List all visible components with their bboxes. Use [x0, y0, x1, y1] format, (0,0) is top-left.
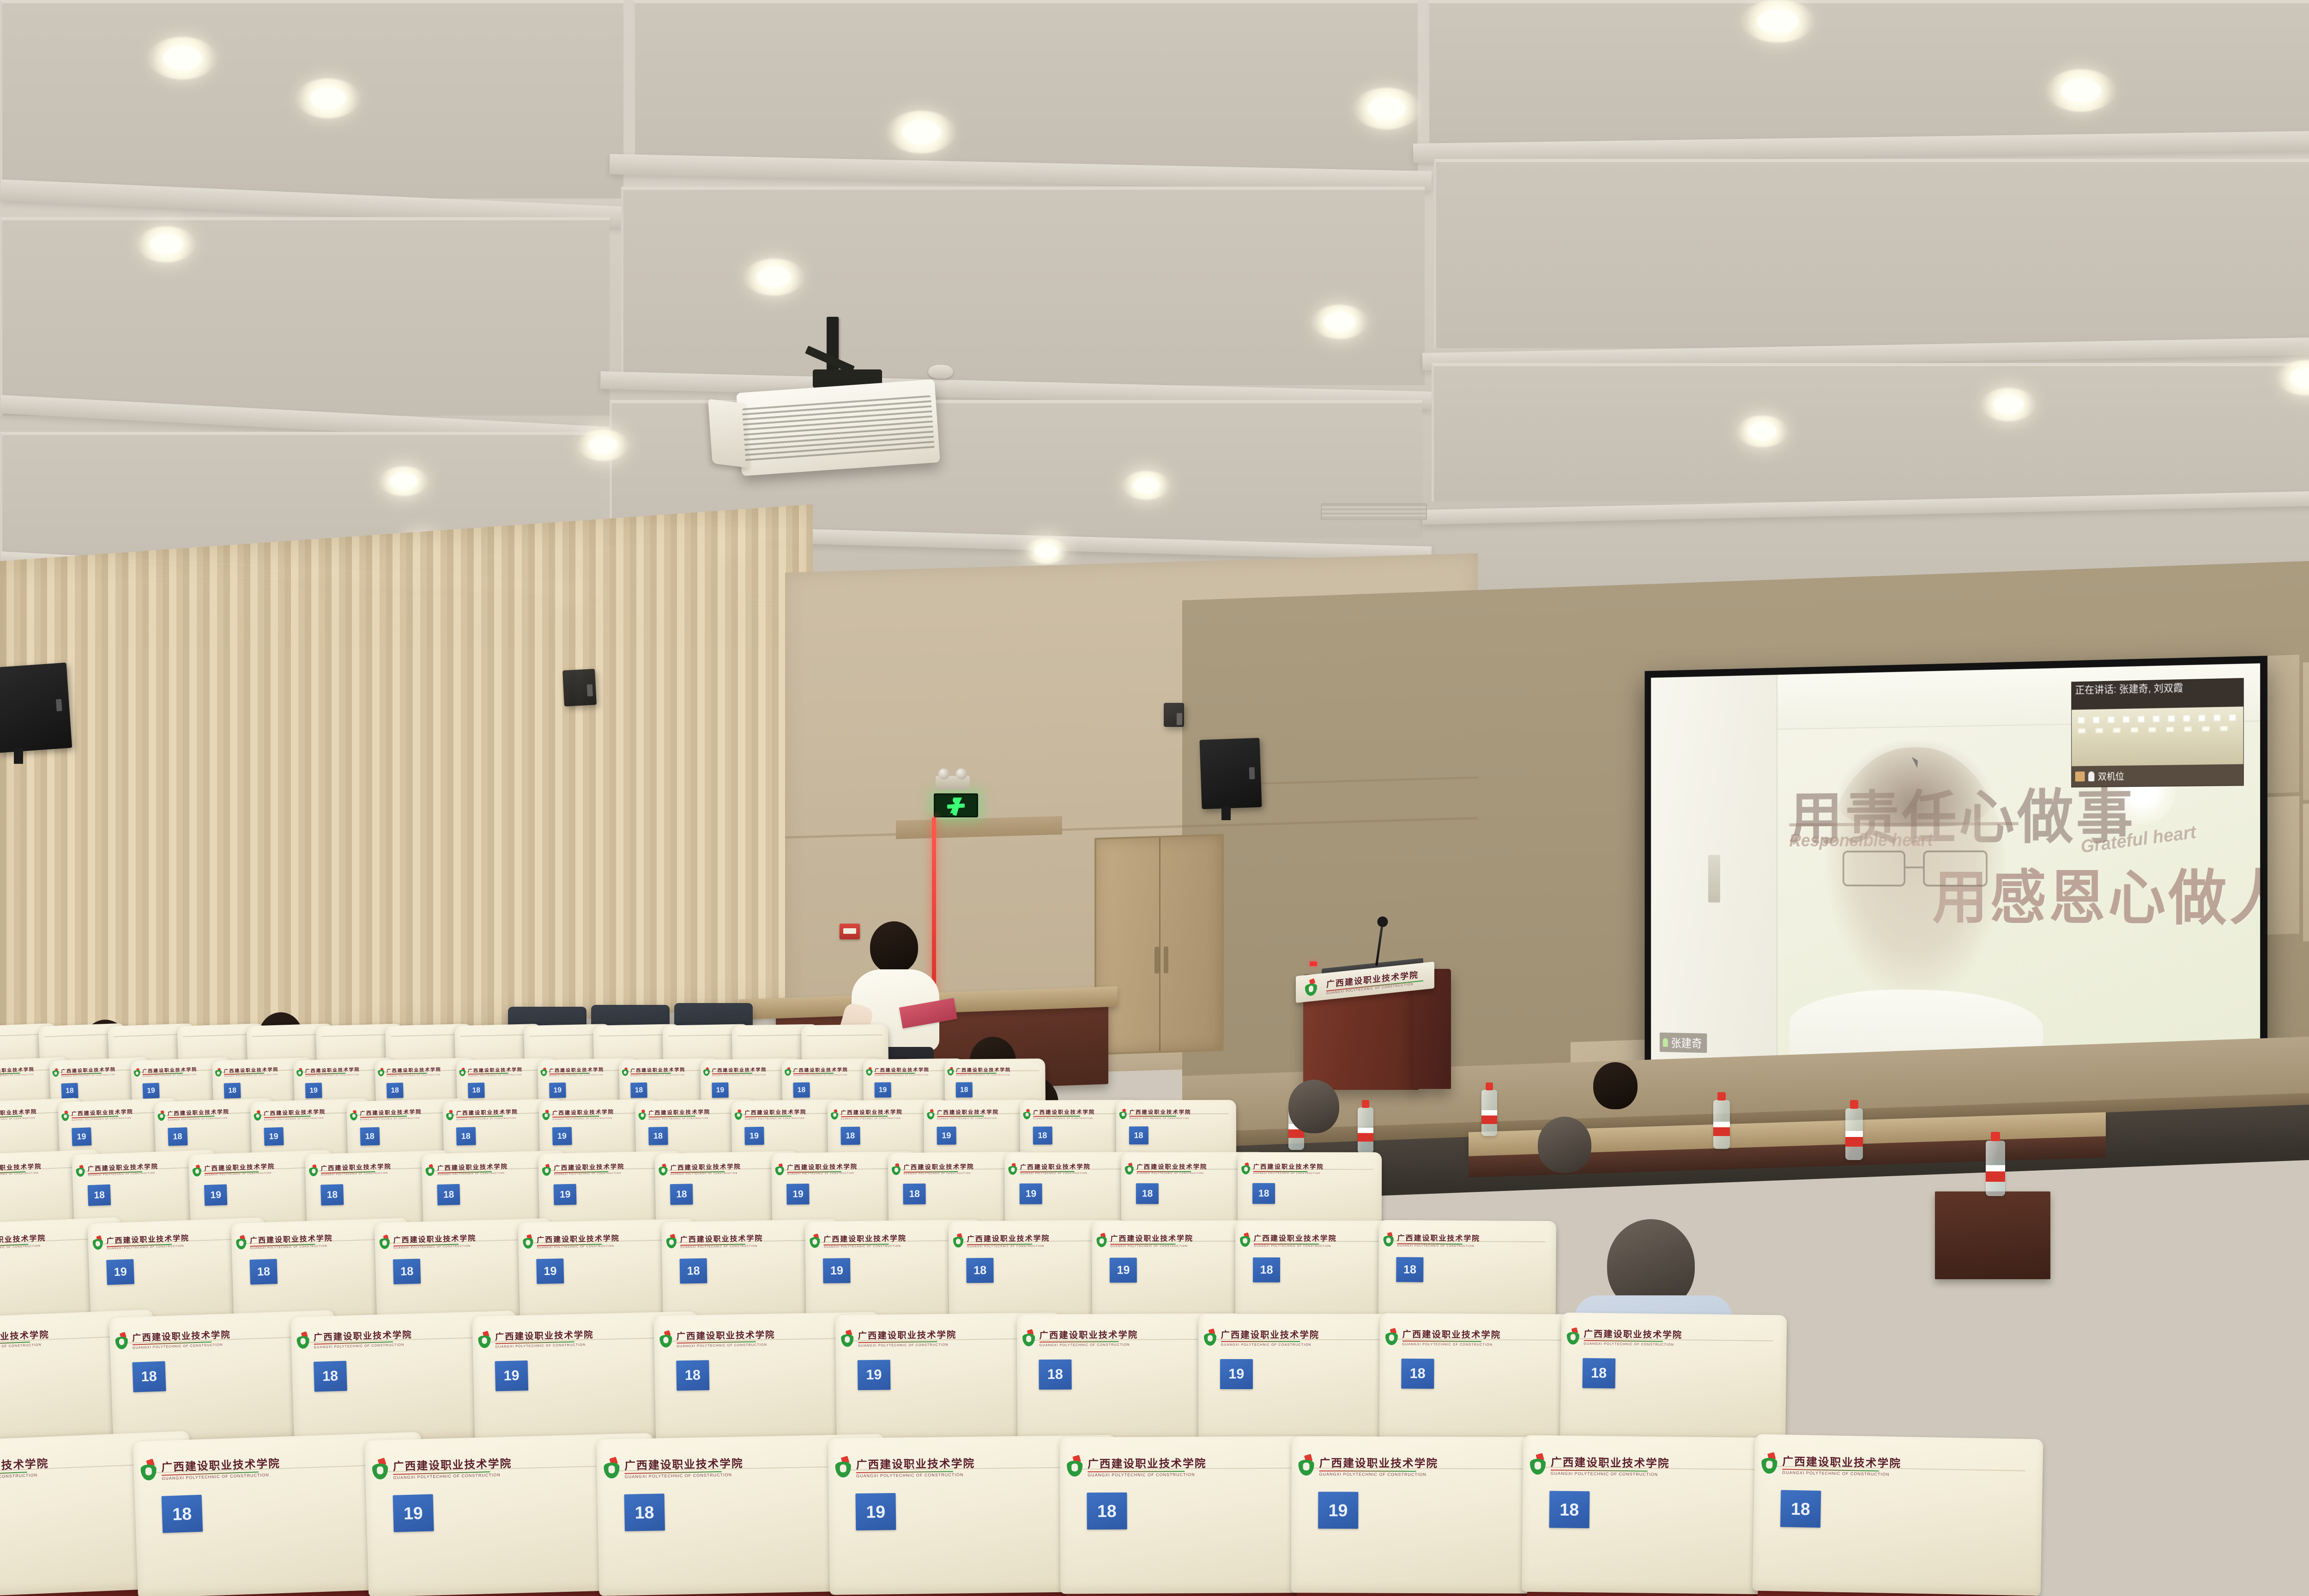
school-logo-icon — [809, 1234, 822, 1248]
school-logo: 广西建设职业技术学院GUANGXI POLYTECHNIC OF CONSTRU… — [192, 1161, 275, 1177]
school-logo-icon — [446, 1110, 455, 1120]
seat-number-badge: 18 — [624, 1493, 665, 1531]
seat-headrest-cover: 广西建设职业技术学院GUANGXI POLYTECHNIC OF CONSTRU… — [1560, 1312, 1787, 1441]
school-logo: 广西建设职业技术学院GUANGXI POLYTECHNIC OF CONSTRU… — [947, 1066, 1011, 1076]
seat-logo-cn: 广西建设职业技术学院 — [956, 1066, 1011, 1073]
seat-logo-cn: 广西建设职业技术学院 — [1088, 1454, 1207, 1471]
seat-number-badge: 18 — [680, 1258, 707, 1284]
school-logo: 广西建设职业技术学院GUANGXI POLYTECHNIC OF CONSTRU… — [1384, 1327, 1501, 1347]
school-logo: 广西建设职业技术学院GUANGXI POLYTECHNIC OF CONSTRU… — [602, 1454, 743, 1480]
school-logo: 广西建设职业技术学院GUANGXI POLYTECHNIC OF CONSTRU… — [139, 1454, 281, 1482]
seat-logo-en: GUANGXI POLYTECHNIC OF CONSTRUCTION — [824, 1245, 907, 1248]
school-logo: 广西建设职业技术学院GUANGXI POLYTECHNIC OF CONSTRU… — [0, 1454, 49, 1483]
seat-number-badge: 18 — [250, 1259, 278, 1285]
seat-logo-cn: 广西建设职业技术学院 — [937, 1108, 999, 1116]
wall-speaker — [1199, 738, 1262, 809]
school-logo: 广西建设职业技术学院GUANGXI POLYTECHNIC OF CONSTRU… — [1119, 1108, 1191, 1120]
ceiling-downlight — [137, 226, 196, 262]
school-logo: 广西建设职业技术学院GUANGXI POLYTECHNIC OF CONSTRU… — [52, 1065, 116, 1077]
microphone-icon — [1662, 1038, 1668, 1047]
school-logo: 广西建设职业技术学院GUANGXI POLYTECHNIC OF CONSTRU… — [830, 1108, 903, 1120]
school-logo-icon — [734, 1110, 744, 1120]
ceiling-downlight — [1025, 538, 1068, 564]
seat-logo-en: GUANGXI POLYTECHNIC OF CONSTRUCTION — [1221, 1342, 1320, 1347]
seat-number-badge: 18 — [437, 1184, 460, 1205]
pip-microphone-icon[interactable] — [2088, 771, 2094, 781]
seat-logo-cn: 广西建设职业技术学院 — [537, 1232, 620, 1245]
auditorium-seat[interactable]: 广西建设职业技术学院GUANGXI POLYTECHNIC OF CONSTRU… — [1757, 1443, 2037, 1596]
seat-number-badge: 19 — [264, 1127, 284, 1146]
side-wall-ribbed-panel — [0, 504, 813, 1060]
school-logo-icon — [91, 1235, 105, 1250]
school-logo-icon — [1529, 1454, 1548, 1475]
seat-logo-cn: 广西建设职业技术学院 — [393, 1232, 476, 1245]
seat-logo-cn: 广西建设职业技术学院 — [264, 1108, 326, 1117]
seat-number-badge: 18 — [670, 1184, 693, 1205]
school-logo-icon — [75, 1165, 87, 1177]
seat-number-badge: 19 — [142, 1083, 160, 1099]
seat-logo-cn: 广西建设职业技术学院 — [903, 1162, 974, 1172]
projection-screen-surface: 用责任心做事 Responsible heart 用感恩心做人 Grateful… — [1651, 663, 2260, 1077]
running-person-icon — [948, 798, 964, 813]
school-logo-icon — [840, 1330, 856, 1347]
seat-logo-cn: 广西建设职业技术学院 — [671, 1161, 741, 1172]
school-logo-icon — [133, 1068, 141, 1077]
school-logo: 广西建设职业技术学院GUANGXI POLYTECHNIC OF CONSTRU… — [1241, 1162, 1324, 1175]
water-bottle[interactable] — [1713, 1100, 1730, 1149]
school-logo: 广西建设职业技术学院GUANGXI POLYTECHNIC OF CONSTRU… — [834, 1454, 975, 1479]
door-handle[interactable] — [1154, 947, 1159, 973]
school-logo: 广西建设职业技术学院GUANGXI POLYTECHNIC OF CONSTRU… — [91, 1232, 189, 1251]
seat-number-badge: 18 — [630, 1082, 647, 1098]
school-logo: 广西建设职业技术学院GUANGXI POLYTECHNIC OF CONSTRU… — [133, 1065, 197, 1077]
seat-logo-cn: 广西建设职业技术学院 — [456, 1108, 518, 1117]
seat-logo-cn: 广西建设职业技术学院 — [1319, 1454, 1439, 1470]
ceiling-downlight — [1741, 0, 1815, 42]
school-logo-icon — [952, 1233, 966, 1247]
school-logo-icon — [658, 1164, 669, 1176]
seat-logo-cn: 广西建设职业技术学院 — [224, 1066, 278, 1074]
school-logo-icon — [659, 1330, 675, 1348]
seat-number-badge: 19 — [786, 1184, 810, 1204]
school-logo-icon — [459, 1068, 467, 1076]
seat-logo-cn: 广西建设职业技术学院 — [1253, 1162, 1324, 1171]
seat-number-badge: 18 — [168, 1127, 187, 1146]
seat-logo-cn: 广西建设职业技术学院 — [1020, 1162, 1091, 1171]
seat-logo-cn: 广西建设职业技术学院 — [1584, 1327, 1682, 1341]
ceiling-coffer — [1432, 363, 2309, 502]
ceiling-downlight — [1312, 305, 1368, 339]
seat-number-badge: 18 — [456, 1127, 476, 1145]
seat-logo-en: GUANGXI POLYTECHNIC OF CONSTRUCTION — [1584, 1342, 1682, 1347]
seat-logo-cn: 广西建设职业技术学院 — [967, 1232, 1050, 1244]
school-logo-icon — [139, 1459, 159, 1481]
seat-logo-cn: 广西建设职业技术学院 — [793, 1066, 848, 1073]
ceiling-downlight — [1981, 388, 2036, 421]
school-logo-icon — [891, 1163, 902, 1175]
school-logo-icon — [926, 1109, 936, 1119]
seat-logo-en: GUANGXI POLYTECHNIC OF CONSTRUCTION — [937, 1117, 999, 1120]
school-logo: 广西建设职业技术学院GUANGXI POLYTECHNIC OF CONSTRU… — [1008, 1162, 1091, 1175]
seat-logo-en: GUANGXI POLYTECHNIC OF CONSTRUCTION — [787, 1172, 858, 1176]
seat-logo-cn: 广西建设职业技术学院 — [1221, 1328, 1320, 1341]
school-logo: 广西建设职业技术学院GUANGXI POLYTECHNIC OF CONSTRU… — [61, 1108, 133, 1122]
seat-number-badge: 19 — [72, 1128, 91, 1146]
ceiling-downlight — [743, 259, 804, 296]
ceiling-coffer — [0, 217, 610, 416]
seat-number-badge: 18 — [320, 1184, 344, 1205]
seat-logo-cn: 广西建设职业技术学院 — [1397, 1232, 1481, 1243]
seat-number-badge: 19 — [1318, 1492, 1359, 1529]
video-room-wall-fixture — [1708, 855, 1720, 902]
school-logo: 广西建设职业技术学院GUANGXI POLYTECHNIC OF CONSTRU… — [1239, 1232, 1336, 1248]
school-logo-icon — [834, 1457, 854, 1477]
seat-logo-en: GUANGXI POLYTECHNIC OF CONSTRUCTION — [793, 1074, 848, 1076]
seat-number-badge: 19 — [106, 1259, 134, 1285]
seat-logo-cn: 广西建设职业技术学院 — [744, 1108, 806, 1116]
seat-number-badge: 18 — [955, 1082, 973, 1098]
seat-logo-cn: 广西建设职业技术学院 — [677, 1328, 775, 1342]
seat-number-badge: 19 — [937, 1127, 956, 1145]
ceiling-downlight — [296, 79, 360, 118]
seat-logo-cn: 广西建设职业技术学院 — [1136, 1162, 1207, 1171]
school-logo-icon — [378, 1235, 392, 1249]
seat-number-badge: 18 — [1252, 1183, 1275, 1204]
seat-logo-cn: 广西建设职业技术学院 — [305, 1066, 360, 1074]
school-logo-icon — [1203, 1329, 1219, 1346]
seat-number-badge: 19 — [857, 1360, 890, 1390]
school-logo-icon — [296, 1068, 304, 1076]
school-logo: 广西建设职业技术学院GUANGXI POLYTECHNIC OF CONSTRU… — [809, 1232, 907, 1249]
seat-logo-cn: 广西建设职业技术学院 — [856, 1454, 975, 1472]
school-logo: 广西建设职业技术学院GUANGXI POLYTECHNIC OF CONSTRU… — [371, 1454, 512, 1481]
school-logo-icon — [1239, 1233, 1252, 1246]
school-logo-icon — [253, 1110, 263, 1120]
school-logo-icon — [1297, 1455, 1317, 1475]
person-head — [1288, 1080, 1339, 1133]
school-logo: 广西建设职业技术学院GUANGXI POLYTECHNIC OF CONSTRU… — [542, 1108, 614, 1120]
seat-logo-en: GUANGXI POLYTECHNIC OF CONSTRUCTION — [0, 1472, 49, 1482]
door-handle[interactable] — [1164, 946, 1168, 973]
ceiling-downlight — [379, 466, 429, 496]
school-logo: 广西建设职业技术学院GUANGXI POLYTECHNIC OF CONSTRU… — [622, 1066, 686, 1077]
seat-logo-cn: 广西建设职业技术学院 — [1130, 1108, 1191, 1116]
wall-speaker — [0, 663, 72, 753]
seat-logo-en: GUANGXI POLYTECHNIC OF CONSTRUCTION — [1253, 1172, 1324, 1175]
emergency-exit-sign — [934, 793, 978, 817]
seat-number-badge: 19 — [495, 1360, 528, 1391]
wall-speaker — [1164, 703, 1184, 727]
seat-logo-cn: 广西建设职业技术学院 — [320, 1161, 391, 1172]
school-logo-icon — [1304, 979, 1320, 997]
school-logo: 广西建设职业技术学院GUANGXI POLYTECHNIC OF CONSTRU… — [1383, 1232, 1481, 1248]
seat-logo-en: GUANGXI POLYTECHNIC OF CONSTRUCTION — [875, 1074, 930, 1076]
door-split-line — [1159, 838, 1161, 1051]
seat-logo-cn: 广西建设职业技术学院 — [142, 1065, 197, 1074]
school-logo: 广西建设职业技术学院GUANGXI POLYTECHNIC OF CONSTRU… — [952, 1232, 1050, 1248]
seat-number-badge: 18 — [161, 1495, 203, 1533]
side-table — [1935, 1191, 2050, 1279]
school-logo-icon — [542, 1110, 551, 1120]
seat-number-badge: 19 — [552, 1127, 572, 1145]
seat-logo-cn: 广西建设职业技术学院 — [630, 1066, 685, 1073]
seat-logo-en: GUANGXI POLYTECHNIC OF CONSTRUCTION — [967, 1245, 1050, 1248]
school-logo-icon — [638, 1110, 647, 1120]
seat-number-badge: 18 — [1549, 1491, 1590, 1529]
seat-number-badge: 18 — [1087, 1493, 1127, 1529]
water-bottle[interactable] — [1358, 1107, 1373, 1154]
seat-logo-en: GUANGXI POLYTECHNIC OF CONSTRUCTION — [1319, 1472, 1439, 1477]
seat-logo-cn: 广西建设职业技术学院 — [387, 1066, 441, 1074]
seat-number-badge: 19 — [393, 1494, 434, 1532]
school-logo-icon — [1241, 1162, 1252, 1174]
seat-number-badge: 18 — [88, 1185, 111, 1206]
school-logo: 广西建设职业技术学院GUANGXI POLYTECHNIC OF CONSTRU… — [0, 1161, 42, 1178]
acoustic-wall-pad — [2303, 800, 2309, 942]
seat-number-badge: 18 — [387, 1082, 404, 1098]
water-bottle[interactable] — [1986, 1141, 2005, 1196]
school-logo-icon — [371, 1458, 391, 1480]
school-logo: 广西建设职业技术学院GUANGXI POLYTECHNIC OF CONSTRU… — [253, 1108, 326, 1121]
school-logo-icon — [308, 1164, 320, 1176]
smoke-detector-icon — [928, 365, 953, 379]
seat-number-badge: 18 — [648, 1127, 668, 1145]
seat-number-badge: 18 — [132, 1361, 166, 1392]
school-logo: 广西建设职业技术学院GUANGXI POLYTECHNIC OF CONSTRU… — [0, 1232, 46, 1251]
seat-logo-cn: 广西建设职业技术学院 — [1254, 1232, 1337, 1243]
seat-number-badge: 18 — [676, 1360, 710, 1390]
seat-logo-cn: 广西建设职业技术学院 — [1033, 1108, 1095, 1116]
seat-logo-cn: 广西建设职业技术学院 — [624, 1454, 743, 1473]
seat-logo-cn: 广西建设职业技术学院 — [360, 1108, 422, 1117]
school-logo: 广西建设职业技术学院GUANGXI POLYTECHNIC OF CONSTRU… — [296, 1328, 412, 1350]
school-logo: 广西建设职业技术学院GUANGXI POLYTECHNIC OF CONSTRU… — [1760, 1451, 1902, 1477]
seat-number-badge: 18 — [468, 1082, 485, 1098]
school-logo-icon — [1566, 1328, 1582, 1345]
speaker-bracket — [1221, 806, 1231, 820]
school-logo-icon — [192, 1165, 203, 1177]
school-logo-icon — [1124, 1163, 1136, 1174]
school-logo-icon — [602, 1457, 622, 1479]
seat-logo-cn: 广西建设职业技术学院 — [161, 1454, 281, 1475]
seat-logo-cn: 广西建设职业技术学院 — [1402, 1327, 1501, 1341]
school-logo: 广西建设职业技术学院GUANGXI POLYTECHNIC OF CONSTRU… — [1022, 1108, 1095, 1120]
school-logo-icon — [350, 1110, 359, 1120]
seat-logo-cn: 广西建设职业技术学院 — [88, 1161, 159, 1173]
school-logo: 广西建设职业技术学院GUANGXI POLYTECHNIC OF CONSTRU… — [840, 1328, 957, 1348]
seat-logo-cn: 广西建设职业技术学院 — [1551, 1453, 1670, 1470]
school-logo: 广西建设职业技术学院GUANGXI POLYTECHNIC OF CONSTRU… — [157, 1108, 230, 1121]
presenter-name-chip: 张建奇 — [1660, 1033, 1707, 1053]
person-head — [870, 921, 918, 973]
seat-number-badge: 19 — [1110, 1258, 1137, 1283]
seat-number-badge: 19 — [823, 1258, 850, 1283]
seat-headrest-cover: 广西建设职业技术学院GUANGXI POLYTECHNIC OF CONSTRU… — [1378, 1220, 1556, 1323]
water-bottle[interactable] — [1845, 1108, 1863, 1160]
school-logo: 广西建设职业技术学院GUANGXI POLYTECHNIC OF CONSTRU… — [542, 1161, 625, 1176]
ceiling-coffer — [633, 0, 1418, 171]
seat-logo-cn: 广西建设职业技术学院 — [106, 1232, 189, 1245]
seat-logo-cn: 广西建设职业技术学院 — [437, 1161, 508, 1172]
projector-vent-grill — [742, 395, 935, 464]
presenter-name: 张建奇 — [1671, 1034, 1702, 1051]
seat-logo-en: GUANGXI POLYTECHNIC OF CONSTRUCTION — [745, 1117, 807, 1120]
seat-number-badge: 19 — [712, 1082, 729, 1098]
seat-logo-cn: 广西建设职业技术学院 — [841, 1108, 903, 1116]
seat-logo-en: GUANGXI POLYTECHNIC OF CONSTRUCTION — [1020, 1172, 1091, 1175]
school-logo-icon — [947, 1067, 955, 1076]
seat-logo-cn: 广西建设职业技术学院 — [393, 1454, 512, 1474]
school-logo-icon — [114, 1332, 131, 1350]
ceiling-downlight — [1736, 416, 1788, 447]
seat-number-badge: 18 — [1129, 1127, 1148, 1145]
school-logo-icon — [774, 1163, 786, 1175]
seat-number-badge: 19 — [305, 1082, 322, 1098]
seat-logo-en: GUANGXI POLYTECHNIC OF CONSTRUCTION — [856, 1472, 975, 1478]
school-logo: 广西建设职业技术学院GUANGXI POLYTECHNIC OF CONSTRU… — [235, 1232, 333, 1250]
school-logo: 广西建设职业技术学院GUANGXI POLYTECHNIC OF CONSTRU… — [377, 1066, 441, 1077]
school-logo: 广西建设职业技术学院GUANGXI POLYTECHNIC OF CONSTRU… — [477, 1328, 594, 1349]
acoustic-wall-pad — [2303, 659, 2309, 801]
ceiling-downlight — [148, 37, 217, 79]
seat-headrest-cover: 广西建设职业技术学院GUANGXI POLYTECHNIC OF CONSTRU… — [1753, 1434, 2043, 1596]
seat-logo-cn: 广西建设职业技术学院 — [787, 1162, 858, 1172]
pip-avatar-icon — [2075, 771, 2085, 781]
seat-logo-cn: 广西建设职业技术学院 — [549, 1066, 604, 1074]
school-logo: 广西建设职业技术学院GUANGXI POLYTECHNIC OF CONSTRU… — [734, 1108, 807, 1120]
school-logo: 广西建设职业技术学院GUANGXI POLYTECHNIC OF CONSTRU… — [378, 1232, 476, 1250]
seat-logo-cn: 广西建设职业技术学院 — [1782, 1452, 1901, 1470]
seat-logo-en: GUANGXI POLYTECHNIC OF CONSTRUCTION — [1254, 1245, 1337, 1247]
school-logo: 广西建设职业技术学院GUANGXI POLYTECHNIC OF CONSTRU… — [350, 1108, 422, 1121]
school-logo: 广西建设职业技术学院GUANGXI POLYTECHNIC OF CONSTRU… — [0, 1108, 37, 1122]
seat-number-badge: 18 — [224, 1082, 241, 1098]
ceiling-coffer — [1427, 0, 2309, 143]
seat-logo-cn: 广西建设职业技术学院 — [468, 1066, 523, 1074]
school-logo: 广西建设职业技术学院GUANGXI POLYTECHNIC OF CONSTRU… — [522, 1232, 620, 1249]
seat-number-badge: 19 — [549, 1082, 566, 1098]
seat-logo-en: GUANGXI POLYTECHNIC OF CONSTRUCTION — [712, 1074, 767, 1076]
school-logo: 广西建设职业技术学院GUANGXI POLYTECHNIC OF CONSTRU… — [1529, 1453, 1670, 1477]
school-logo-icon — [665, 1234, 679, 1248]
school-logo-icon — [1022, 1330, 1038, 1347]
school-logo-icon — [522, 1234, 535, 1249]
seat-logo-en: GUANGXI POLYTECHNIC OF CONSTRUCTION — [1088, 1472, 1207, 1477]
pip-bar-label: 双机位 — [2098, 769, 2124, 783]
seat-logo-en: GUANGXI POLYTECHNIC OF CONSTRUCTION — [1551, 1471, 1670, 1477]
seat-number-badge: 18 — [903, 1184, 926, 1204]
ceiling-downlight — [887, 111, 956, 153]
school-logo: 广西建设职业技术学院GUANGXI POLYTECHNIC OF CONSTRU… — [659, 1328, 775, 1348]
seat-logo-en: GUANGXI POLYTECHNIC OF CONSTRUCTION — [1130, 1117, 1191, 1119]
seat-logo-cn: 广西建设职业技术学院 — [648, 1108, 710, 1116]
seat-number-badge: 19 — [1220, 1359, 1253, 1389]
school-logo-icon — [215, 1068, 223, 1077]
seat-logo-en: GUANGXI POLYTECHNIC OF CONSTRUCTION — [904, 1172, 974, 1176]
school-logo: 广西建设职业技术学院GUANGXI POLYTECHNIC OF CONSTRU… — [1566, 1327, 1682, 1347]
wall-speaker — [562, 669, 597, 707]
seat-number-badge: 18 — [793, 1082, 810, 1098]
auditorium-door[interactable] — [1094, 834, 1224, 1055]
seat-logo-en: GUANGXI POLYTECHNIC OF CONSTRUCTION — [631, 1074, 686, 1076]
seat-logo-cn: 广西建设职业技术学院 — [250, 1232, 333, 1245]
school-logo-icon — [377, 1068, 386, 1076]
school-logo: 广西建设职业技术学院GUANGXI POLYTECHNIC OF CONSTRU… — [215, 1066, 279, 1077]
water-bottle[interactable] — [1481, 1090, 1497, 1136]
school-logo: 广西建设职业技术学院GUANGXI POLYTECHNIC OF CONSTRU… — [114, 1328, 231, 1351]
pip-speaking-label: 正在讲话: 张建奇, 刘双霞 — [2072, 679, 2243, 710]
school-logo-icon — [865, 1067, 874, 1076]
school-logo-icon — [830, 1109, 840, 1119]
school-logo: 广西建设职业技术学院GUANGXI POLYTECHNIC OF CONSTRU… — [1297, 1454, 1438, 1477]
seat-number-badge: 18 — [1033, 1127, 1052, 1145]
school-logo: 广西建设职业技术学院GUANGXI POLYTECHNIC OF CONSTRU… — [0, 1328, 50, 1351]
ceiling-projector — [736, 379, 940, 476]
school-logo: 广西建设职业技术学院GUANGXI POLYTECHNIC OF CONSTRU… — [459, 1066, 523, 1077]
speaker-bracket — [14, 748, 23, 764]
school-logo: 广西建设职业技术学院GUANGXI POLYTECHNIC OF CONSTRU… — [446, 1108, 518, 1121]
school-logo: 广西建设职业技术学院GUANGXI POLYTECHNIC OF CONSTRU… — [665, 1232, 763, 1249]
eyeglasses-icon — [1843, 851, 1988, 887]
seat-logo-cn: 广西建设职业技术学院 — [552, 1108, 614, 1117]
school-logo: 广西建设职业技术学院GUANGXI POLYTECHNIC OF CONSTRU… — [0, 1065, 35, 1077]
seat-logo-en: GUANGXI POLYTECHNIC OF CONSTRUCTION — [1111, 1245, 1194, 1248]
seat-logo-en: GUANGXI POLYTECHNIC OF CONSTRUCTION — [648, 1117, 710, 1120]
school-logo: 广西建设职业技术学院GUANGXI POLYTECHNIC OF CONSTRU… — [425, 1161, 508, 1177]
seat-number-badge: 19 — [554, 1184, 577, 1205]
seat-number-badge: 18 — [393, 1259, 421, 1284]
seat-number-badge: 19 — [855, 1493, 896, 1530]
seat-number-badge: 19 — [874, 1082, 891, 1098]
seat-logo-en: GUANGXI POLYTECHNIC OF CONSTRUCTION — [1782, 1470, 1901, 1477]
seat-logo-cn: 广西建设职业技术学院 — [712, 1066, 767, 1073]
seat-logo-en: GUANGXI POLYTECHNIC OF CONSTRUCTION — [671, 1172, 741, 1176]
pip-toolbar[interactable]: 双机位 — [2072, 764, 2243, 787]
school-logo: 广西建设职业技术学院GUANGXI POLYTECHNIC OF CONSTRU… — [296, 1066, 360, 1077]
seat-logo-cn: 广西建设职业技术学院 — [554, 1161, 624, 1172]
projection-screen[interactable]: 用责任心做事 Responsible heart 用感恩心做人 Grateful… — [1644, 656, 2267, 1085]
school-logo-icon — [542, 1164, 553, 1176]
seat-logo-cn: 广西建设职业技术学院 — [61, 1065, 116, 1074]
school-logo: 广西建设职业技术学院GUANGXI POLYTECHNIC OF CONSTRU… — [1203, 1328, 1319, 1347]
video-pip-panel[interactable]: 正在讲话: 张建奇, 刘双霞 双机位 — [2071, 678, 2244, 787]
school-logo-icon — [622, 1067, 630, 1076]
school-logo-icon — [61, 1111, 71, 1121]
ceiling-downlight — [1353, 88, 1420, 129]
school-logo: 广西建设职业技术学院GUANGXI POLYTECHNIC OF CONSTRU… — [308, 1161, 392, 1177]
school-logo-icon — [1022, 1109, 1032, 1119]
seat-number-badge: 18 — [313, 1360, 347, 1391]
seat-logo-cn: 广西建设职业技术学院 — [823, 1232, 907, 1244]
ceiling-coffer — [621, 187, 1425, 385]
seat-number-badge: 18 — [1396, 1257, 1423, 1282]
emergency-light — [936, 776, 970, 790]
school-logo: 广西建设职业技术学院GUANGXI POLYTECHNIC OF CONSTRU… — [1022, 1328, 1138, 1347]
seat-number-badge: 18 — [840, 1127, 860, 1145]
school-logo-icon — [425, 1164, 436, 1176]
seat-number-badge: 18 — [61, 1083, 79, 1099]
seat-logo-cn: 广西建设职业技术学院 — [1110, 1232, 1193, 1244]
school-logo: 广西建设职业技术学院GUANGXI POLYTECHNIC OF CONSTRU… — [1066, 1454, 1207, 1478]
school-logo: 广西建设职业技术学院GUANGXI POLYTECHNIC OF CONSTRU… — [774, 1162, 858, 1176]
seat-number-badge: 19 — [1020, 1184, 1042, 1204]
school-logo: 广西建设职业技术学院GUANGXI POLYTECHNIC OF CONSTRU… — [926, 1108, 999, 1120]
person-head — [1593, 1062, 1638, 1109]
seat-logo-cn: 广西建设职业技术学院 — [875, 1066, 930, 1073]
seat-logo-cn: 广西建设职业技术学院 — [168, 1108, 230, 1117]
school-logo: 广西建设职业技术学院GUANGXI POLYTECHNIC OF CONSTRU… — [891, 1162, 974, 1176]
school-logo-icon — [1119, 1109, 1128, 1119]
